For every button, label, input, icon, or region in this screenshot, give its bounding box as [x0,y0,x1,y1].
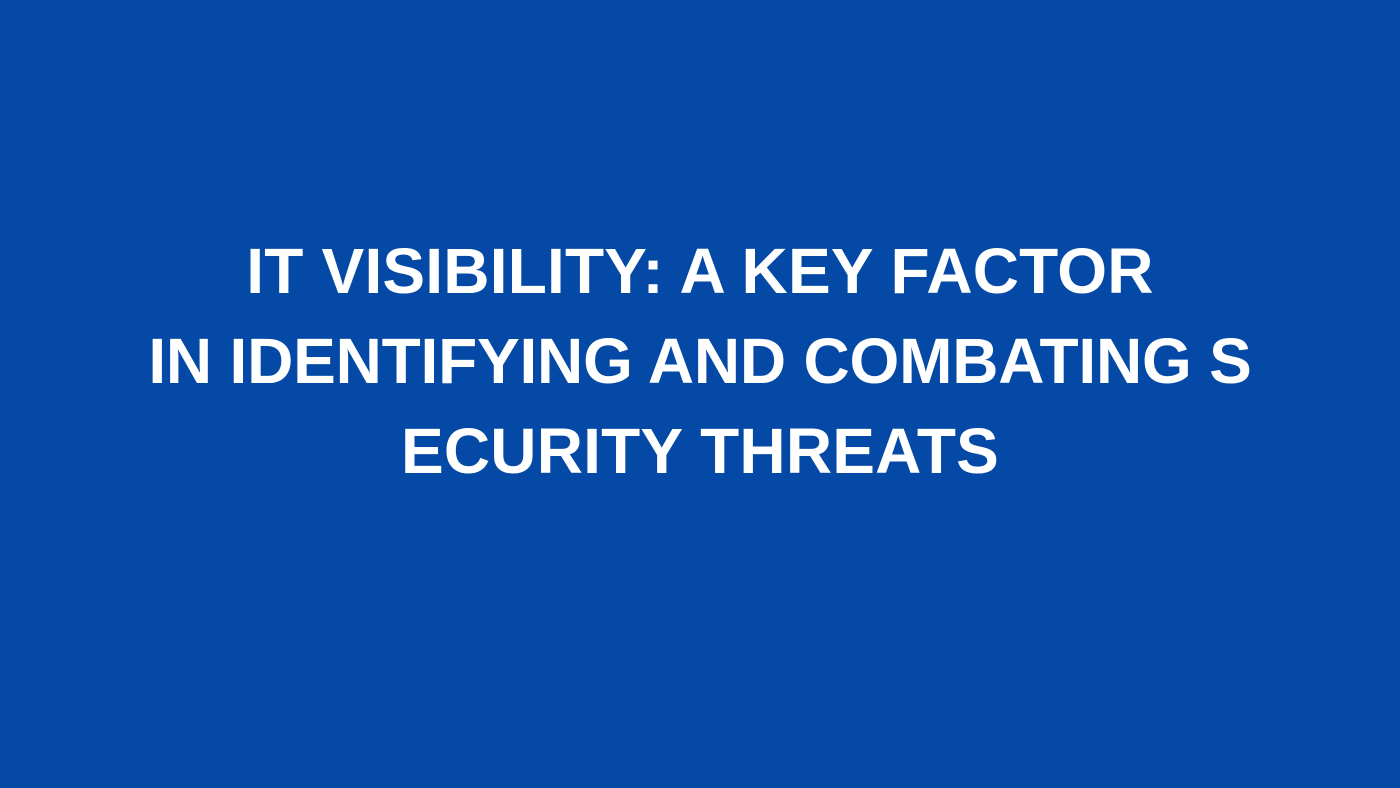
title-line-3: ECURITY THREATS [110,406,1290,496]
page-title: IT VISIBILITY: A KEY FACTOR IN IDENTIFYI… [110,226,1290,496]
title-line-2: IN IDENTIFYING AND COMBATING S [110,316,1290,406]
title-slide: IT VISIBILITY: A KEY FACTOR IN IDENTIFYI… [0,0,1400,788]
title-line-1: IT VISIBILITY: A KEY FACTOR [110,226,1290,316]
